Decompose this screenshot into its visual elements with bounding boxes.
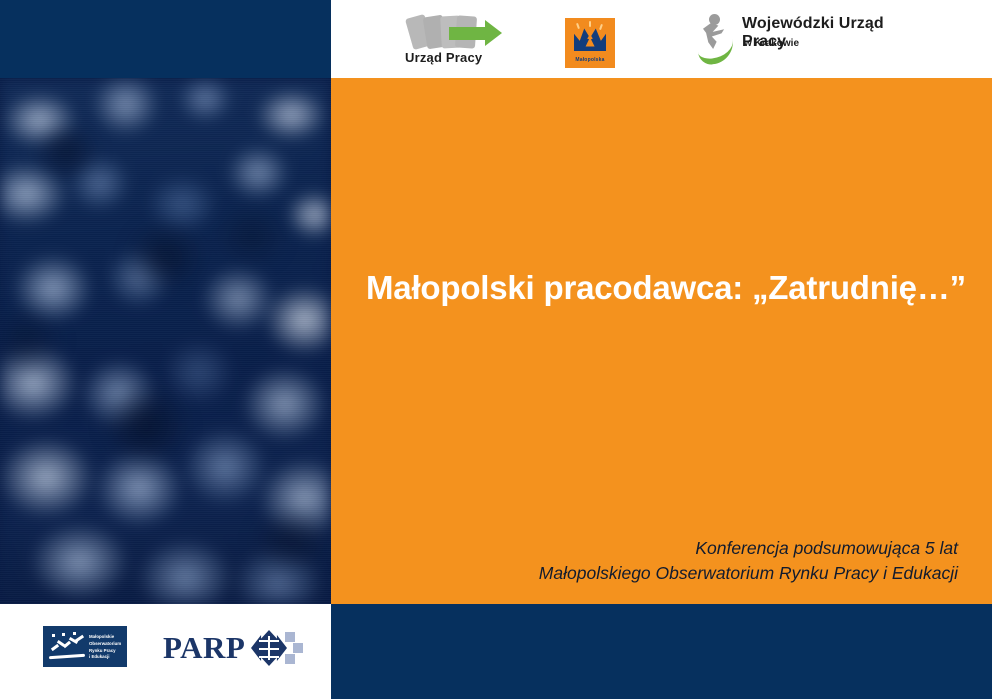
malopolska-crown-icon xyxy=(574,27,606,51)
photo-grain xyxy=(0,78,331,604)
logo-parp-label: PARP xyxy=(163,630,245,666)
logo-malopolska-label: Małopolska xyxy=(565,57,615,63)
logo-wojewodzki-urzad-pracy: Wojewódzki Urząd Pracy w Krakowie xyxy=(696,12,926,66)
logo-parp: PARP xyxy=(163,626,303,670)
morpe-line-4: i Edukacji xyxy=(89,654,123,661)
morpe-line-2: Obserwatorium xyxy=(89,641,123,648)
header-logo-row: Urząd Pracy Małopolska Wojewódzki Urząd … xyxy=(331,0,992,78)
logo-malopolska: Małopolska xyxy=(565,18,615,68)
running-figure-icon xyxy=(696,14,736,58)
subtitle-line-2: Małopolskiego Obserwatorium Rynku Pracy … xyxy=(539,561,958,586)
subtitle-line-1: Konferencja podsumowująca 5 lat xyxy=(539,536,958,561)
slide-subtitle: Konferencja podsumowująca 5 lat Małopols… xyxy=(539,536,958,587)
orange-content-panel xyxy=(331,78,992,604)
logo-wup-line2: w Krakowie xyxy=(744,38,799,49)
navy-top-bar xyxy=(0,0,331,78)
green-swoosh-icon xyxy=(697,36,736,66)
morpe-line-1: Małopolskie xyxy=(89,634,123,641)
logo-morpe: Małopolskie Obserwatorium Rynku Pracy i … xyxy=(43,626,127,667)
crowd-photo xyxy=(0,78,331,604)
logo-urzad-pracy: Urząd Pracy xyxy=(405,14,525,70)
chart-arrow-icon xyxy=(49,632,85,660)
logo-morpe-label: Małopolskie Obserwatorium Rynku Pracy i … xyxy=(89,634,123,661)
parp-diamond-arrow-icon xyxy=(251,628,303,668)
logo-urzad-pracy-label: Urząd Pracy xyxy=(405,50,482,65)
presentation-slide: Urząd Pracy Małopolska Wojewódzki Urząd … xyxy=(0,0,992,699)
navy-footer-bar xyxy=(331,604,992,699)
morpe-line-3: Rynku Pracy xyxy=(89,648,123,655)
green-arrow-icon xyxy=(449,27,487,40)
slide-title: Małopolski pracodawca: „Zatrudnię…” xyxy=(366,268,966,308)
